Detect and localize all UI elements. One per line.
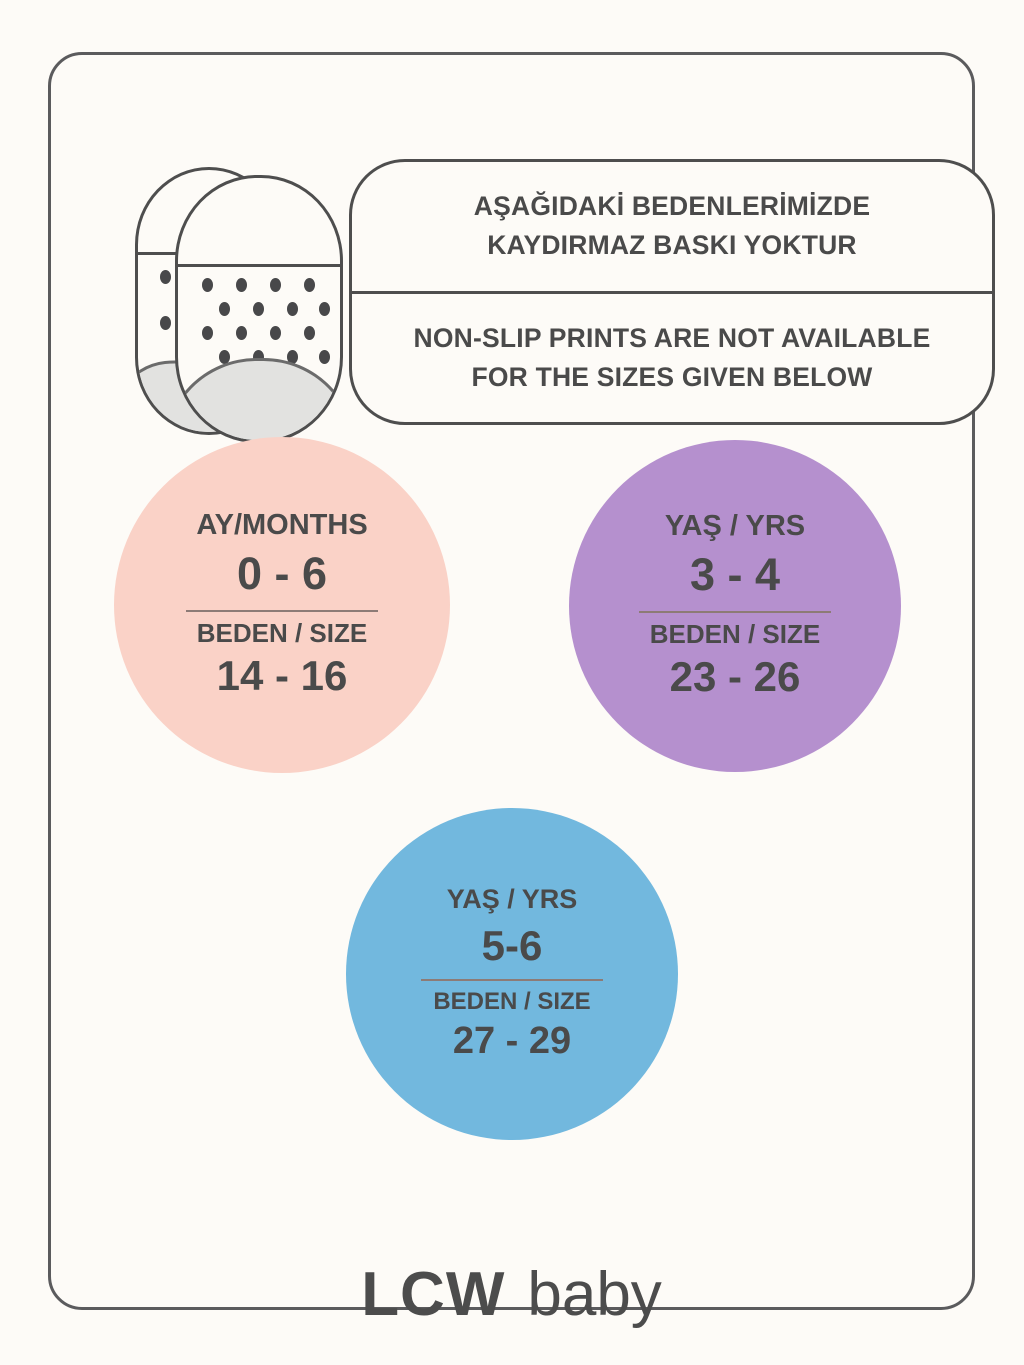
size-circle-blue: YAŞ / YRS 5-6 BEDEN / SIZE 27 - 29 — [346, 808, 678, 1140]
non-slip-dot-icon — [287, 302, 298, 316]
size-circle-pink: AY/MONTHS 0 - 6 BEDEN / SIZE 14 - 16 — [114, 437, 450, 773]
non-slip-dot-icon — [304, 278, 315, 292]
notice-english-line1: NON-SLIP PRINTS ARE NOT AVAILABLE — [414, 319, 931, 358]
notice-english: NON-SLIP PRINTS ARE NOT AVAILABLE FOR TH… — [352, 294, 992, 423]
brand-logo-main: LCW — [361, 1260, 505, 1329]
notice-turkish: AŞAĞIDAKİ BEDENLERİMİZDE KAYDIRMAZ BASKI… — [352, 162, 992, 294]
size-circle-age-value: 0 - 6 — [237, 547, 327, 600]
non-slip-dot-icon — [160, 316, 171, 330]
notice-english-line2: FOR THE SIZES GIVEN BELOW — [471, 358, 872, 397]
notice-turkish-line1: AŞAĞIDAKİ BEDENLERİMİZDE — [474, 187, 870, 226]
size-circle-size-value: 23 - 26 — [670, 652, 801, 702]
size-circle-age-value: 3 - 4 — [690, 548, 780, 601]
notice-turkish-line2: KAYDIRMAZ BASKI YOKTUR — [487, 226, 857, 265]
brand-logo-sub: baby — [527, 1260, 661, 1329]
size-circle-purple: YAŞ / YRS 3 - 4 BEDEN / SIZE 23 - 26 — [569, 440, 901, 772]
size-circle-size-label: BEDEN / SIZE — [650, 620, 820, 650]
size-circle-size-value: 14 - 16 — [217, 651, 348, 701]
size-circle-age-label: AY/MONTHS — [196, 509, 367, 542]
non-slip-dot-icon — [236, 326, 247, 340]
size-circle-size-label: BEDEN / SIZE — [433, 988, 590, 1016]
size-circle-size-value: 27 - 29 — [453, 1019, 571, 1064]
non-slip-dot-icon — [219, 302, 230, 316]
size-circle-age-label: YAŞ / YRS — [665, 510, 805, 543]
non-slip-dot-icon — [304, 326, 315, 340]
size-circle-size-label: BEDEN / SIZE — [197, 619, 367, 649]
non-slip-dot-icon — [270, 278, 281, 292]
non-slip-dot-icon — [202, 278, 213, 292]
size-circle-divider — [421, 979, 603, 981]
non-slip-dot-icon — [319, 302, 330, 316]
socks-illustration-icon — [133, 163, 343, 443]
size-circle-divider — [639, 611, 831, 613]
non-slip-dot-icon — [236, 278, 247, 292]
non-slip-dot-icon — [160, 270, 171, 284]
non-slip-dot-icon — [270, 326, 281, 340]
sock-front-shape — [175, 175, 343, 443]
non-slip-dot-icon — [319, 350, 330, 364]
non-slip-dot-icon — [253, 302, 264, 316]
size-circle-age-value: 5-6 — [482, 921, 543, 971]
size-circle-divider — [186, 610, 378, 612]
non-slip-dot-icon — [202, 326, 213, 340]
notice-box: AŞAĞIDAKİ BEDENLERİMİZDE KAYDIRMAZ BASKI… — [349, 159, 995, 425]
sock-cuff-line — [178, 264, 340, 267]
brand-logo: LCWbaby — [51, 1259, 972, 1330]
size-circle-age-label: YAŞ / YRS — [447, 884, 578, 915]
